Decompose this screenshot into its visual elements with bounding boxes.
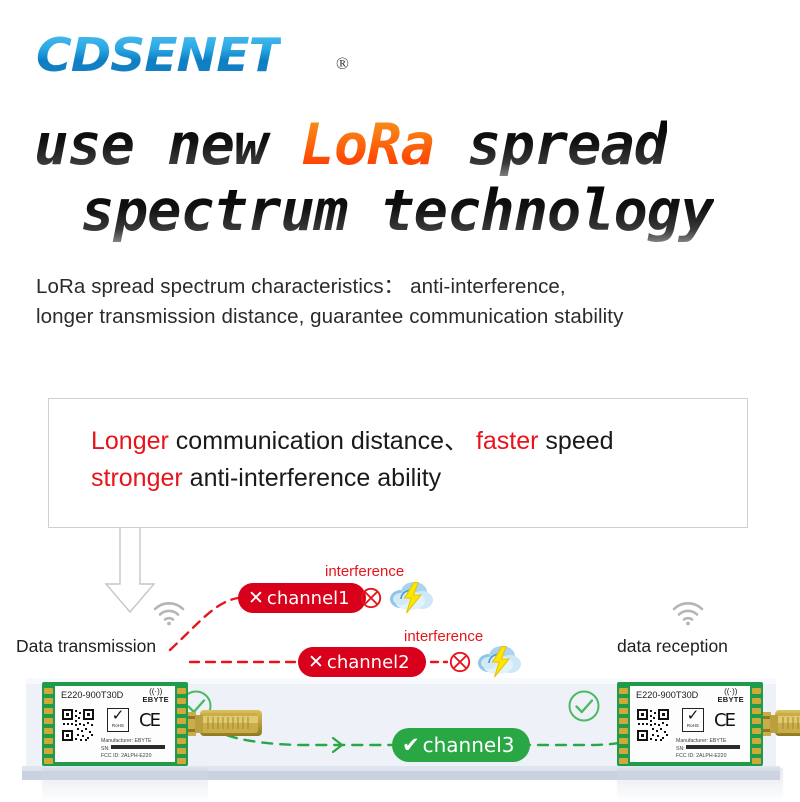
pad-column-left [44,688,53,768]
pcb-board: E220-900T30D ((·)) EBYTE [42,682,188,766]
headline-line-2: spectrum technology [28,178,788,244]
qr-code-icon [636,708,670,742]
manufacturer-line: Manufacturer: EBYTE [676,738,740,745]
lora-module-transmitter[interactable]: E220-900T30D ((·)) EBYTE [42,682,208,766]
channel3-badge[interactable]: ✔ channel3 [392,728,530,762]
headline-line-1: use new LoRa spread [28,112,788,178]
ebyte-brand-logo: ((·)) EBYTE [142,688,169,704]
check-icon: ✔ [402,735,420,756]
headline-line2-text: spectrum technology [80,178,713,244]
pad-column-left [619,688,628,768]
pcb-silkscreen: E220-900T30D ((·)) EBYTE [630,686,750,762]
brand-logo-text: CDSENET [36,28,281,82]
callout-box: Longer communication distance、 faster sp… [48,398,748,528]
manufacturer-line: Manufacturer: EBYTE [101,738,165,745]
rohs-label: RoHS [683,723,703,728]
pad-column-right [177,688,186,768]
serial-number-line: SN: [676,745,740,753]
subtitle-line-1: LoRa spread spectrum characteristics： an… [36,272,776,302]
callout-highlight-stronger: stronger [91,464,183,492]
lora-module-receiver[interactable]: E220-900T30D ((·)) EBYTE [617,682,783,766]
circle-check-icon [566,688,602,724]
callout-line-1: Longer communication distance、 faster sp… [91,423,747,460]
subtitle-line-2: longer transmission distance, guarantee … [36,302,776,332]
channel3-label: channel3 [423,733,515,757]
qr-code-icon [61,708,95,742]
module-reflection [42,768,208,802]
ce-mark-icon: CE [139,710,159,731]
rohs-mark: ✓ RoHS [682,708,704,732]
module-part-number: E220-900T30D [61,690,123,700]
ebyte-name: EBYTE [142,696,169,704]
sma-connector-icon [200,710,262,736]
ce-mark-icon: CE [714,710,734,731]
rohs-mark: ✓ RoHS [107,708,129,732]
check-icon: ✓ [683,709,703,723]
module-fineprint: Manufacturer: EBYTE SN: FCC ID: 2ALPH-E2… [101,738,165,760]
serial-number-line: SN: [101,745,165,753]
communication-diagram: Data transmission data reception interfe… [0,540,800,800]
pcb-board: E220-900T30D ((·)) EBYTE [617,682,763,766]
ebyte-name: EBYTE [717,696,744,704]
subtitle: LoRa spread spectrum characteristics： an… [36,272,776,332]
fcc-id-line: FCC ID: 2ALPH-E220 [676,753,740,760]
check-icon: ✓ [108,709,128,723]
callout-text-3: anti-interference ability [183,464,441,492]
callout-text-1: communication distance、 [169,427,476,455]
rohs-label: RoHS [108,723,128,728]
callout-line-2: stronger anti-interference ability [91,460,747,497]
fcc-id-line: FCC ID: 2ALPH-E220 [101,753,165,760]
module-reflection [617,768,783,802]
pad-column-right [752,688,761,768]
headline-lora-highlight: LoRa [301,112,434,178]
callout-text-2: speed [538,427,613,455]
pcb-silkscreen: E220-900T30D ((·)) EBYTE [55,686,175,762]
module-fineprint: Manufacturer: EBYTE SN: FCC ID: 2ALPH-E2… [676,738,740,760]
brand-logo: CDSENET ® [36,28,376,88]
headline: use new LoRa spread spectrum technology [28,112,788,244]
ebyte-brand-logo: ((·)) EBYTE [717,688,744,704]
callout-highlight-longer: Longer [91,427,169,455]
module-part-number: E220-900T30D [636,690,698,700]
headline-line1-part2: spread [434,112,667,178]
callout-highlight-faster: faster [476,427,539,455]
headline-line1-part1: use new [34,112,301,178]
registered-trademark-icon: ® [336,54,349,74]
